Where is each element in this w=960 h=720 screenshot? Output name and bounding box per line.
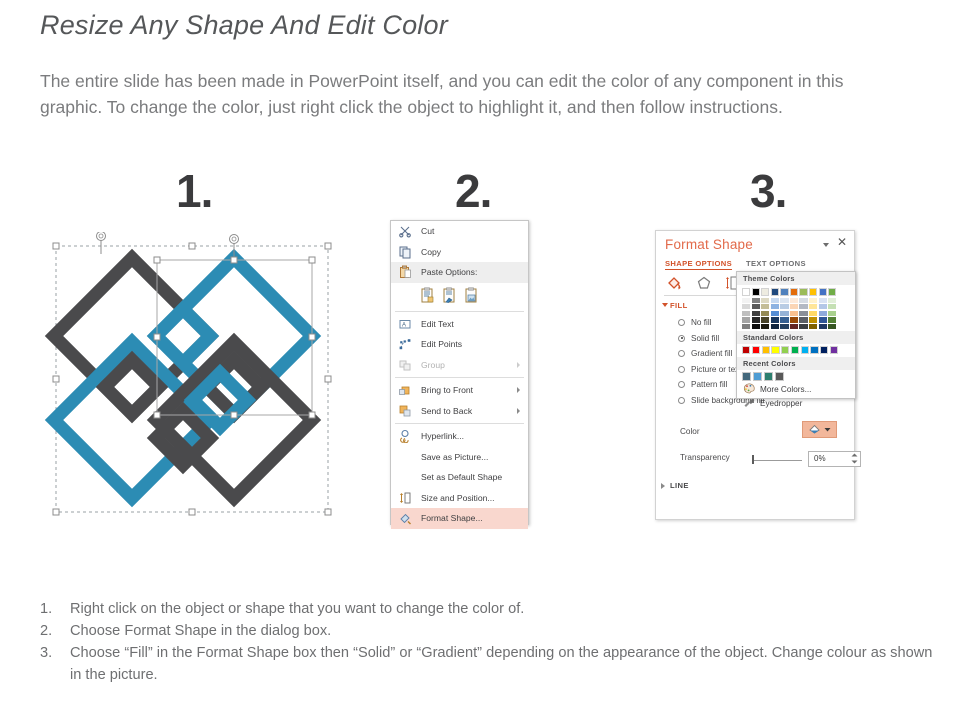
menu-item-label: Edit Points: [421, 339, 462, 349]
transparency-label: Transparency: [680, 453, 730, 462]
eyedropper-icon: [743, 397, 755, 410]
theme-swatch-6-4[interactable]: [799, 317, 807, 322]
intro-paragraph: The entire slide has been made in PowerP…: [40, 68, 868, 120]
standard-swatch-7[interactable]: [810, 346, 818, 354]
menu-item-bring-to-front[interactable]: Bring to Front: [391, 380, 528, 401]
menu-item-hyperlink[interactable]: Hyperlink...: [391, 426, 528, 447]
theme-swatch-2-1[interactable]: [761, 298, 769, 303]
theme-swatch-0-5[interactable]: [742, 324, 750, 329]
radio-icon[interactable]: [678, 319, 685, 326]
theme-swatch-0-3[interactable]: [742, 311, 750, 316]
theme-swatch-1-3[interactable]: [752, 311, 760, 316]
menu-item-set-as-default-shape[interactable]: Set as Default Shape: [391, 467, 528, 488]
menu-item-label: Paste Options:: [421, 267, 477, 277]
context-menu[interactable]: Cut Copy Paste Options:: [390, 220, 529, 525]
theme-swatch-6-1[interactable]: [799, 298, 807, 303]
theme-swatch-2-5[interactable]: [761, 324, 769, 329]
group-icon: [398, 358, 412, 372]
theme-swatch-5-2[interactable]: [790, 304, 798, 309]
theme-swatch-3-2[interactable]: [771, 304, 779, 309]
rotate-handle-left: [97, 232, 106, 254]
menu-item-label: Save as Picture...: [421, 452, 488, 462]
menu-item-label: Cut: [421, 226, 434, 236]
pentagon-effects-icon[interactable]: [696, 275, 712, 296]
menu-divider: [395, 423, 524, 424]
theme-colors-header: Theme Colors: [737, 272, 855, 285]
theme-swatch-3-4[interactable]: [771, 317, 779, 322]
theme-swatch-1-2[interactable]: [752, 304, 760, 309]
standard-swatch-3[interactable]: [771, 346, 779, 354]
list-item-text: Choose Format Shape in the dialog box.: [70, 620, 940, 642]
paste-icon: [398, 265, 412, 279]
edit-points-icon: [398, 337, 412, 351]
menu-item-label: Edit Text: [421, 319, 454, 329]
theme-swatch-9-1[interactable]: [828, 298, 836, 303]
step-number-3: 3.: [750, 168, 786, 214]
theme-swatch-7-0[interactable]: [809, 288, 817, 296]
chevron-right-icon: [517, 387, 520, 393]
edit-text-icon: A: [398, 317, 412, 331]
menu-divider: [395, 377, 524, 378]
transparency-slider-track[interactable]: [754, 460, 802, 461]
theme-swatch-5-4[interactable]: [790, 317, 798, 322]
eyedropper-item[interactable]: Eyedropper: [737, 397, 855, 411]
recent-colors-header: Recent Colors: [737, 357, 855, 370]
fill-section-header: FILL: [670, 301, 688, 310]
format-shape-pane[interactable]: Format Shape ✕ SHAPE OPTIONS TEXT OPTION…: [655, 230, 855, 520]
color-picker-flyout[interactable]: Theme Colors Standard Colors Recent Colo…: [736, 271, 856, 399]
copy-icon: [398, 245, 412, 259]
tab-text-options[interactable]: TEXT OPTIONS: [746, 259, 806, 270]
pane-tabs[interactable]: SHAPE OPTIONS TEXT OPTIONS: [665, 259, 806, 270]
theme-swatch-3-0[interactable]: [771, 288, 779, 296]
spinner-down-icon: [851, 460, 858, 464]
list-item-index: 1.: [40, 598, 70, 620]
theme-swatch-5-1[interactable]: [790, 298, 798, 303]
list-item-text: Choose “Fill” in the Format Shape box th…: [70, 642, 940, 686]
menu-item-label: Send to Back: [421, 406, 472, 416]
theme-swatch-6-2[interactable]: [799, 304, 807, 309]
list-item-text: Right click on the object or shape that …: [70, 598, 940, 620]
theme-swatch-1-1[interactable]: [752, 298, 760, 303]
pane-title: Format Shape: [665, 237, 753, 252]
radio-label: Pattern fill: [691, 380, 727, 389]
bring-to-front-icon: [398, 383, 412, 397]
step-number-2: 2.: [455, 168, 491, 214]
theme-swatch-3-5[interactable]: [771, 324, 779, 329]
format-shape-icon: [398, 511, 412, 525]
theme-swatch-8-1[interactable]: [819, 298, 827, 303]
theme-swatch-3-1[interactable]: [771, 298, 779, 303]
theme-swatch-6-5[interactable]: [799, 324, 807, 329]
theme-colors-grid[interactable]: [737, 285, 855, 331]
theme-swatch-1-4[interactable]: [752, 317, 760, 322]
menu-item-format-shape[interactable]: Format Shape...: [391, 508, 528, 529]
theme-swatch-1-5[interactable]: [752, 324, 760, 329]
radio-icon[interactable]: [678, 397, 685, 404]
chevron-right-icon: [517, 408, 520, 414]
collapse-triangle-icon[interactable]: [661, 483, 665, 489]
standard-colors-header: Standard Colors: [737, 331, 855, 344]
color-label: Color: [680, 427, 700, 436]
fill-color-button[interactable]: [802, 421, 837, 438]
standard-swatch-8[interactable]: [820, 346, 828, 354]
theme-swatch-2-0[interactable]: [761, 288, 769, 296]
list-item: 3. Choose “Fill” in the Format Shape box…: [40, 642, 940, 686]
list-item: 2. Choose Format Shape in the dialog box…: [40, 620, 940, 642]
theme-swatch-4-4[interactable]: [780, 317, 788, 322]
theme-swatch-5-3[interactable]: [790, 311, 798, 316]
theme-swatch-9-0[interactable]: [828, 288, 836, 296]
theme-swatch-9-3[interactable]: [828, 311, 836, 316]
eyedropper-label: Eyedropper: [760, 399, 802, 408]
menu-item-label: Group: [421, 360, 445, 370]
scissors-icon: [398, 224, 412, 238]
theme-swatch-2-4[interactable]: [761, 317, 769, 322]
menu-item-label: Format Shape...: [421, 513, 483, 523]
hyperlink-icon: [398, 429, 412, 443]
standard-swatch-2[interactable]: [762, 346, 770, 354]
tab-shape-options[interactable]: SHAPE OPTIONS: [665, 259, 732, 270]
theme-swatch-7-5[interactable]: [809, 324, 817, 329]
standard-colors-grid[interactable]: [737, 344, 855, 357]
radio-icon[interactable]: [678, 350, 685, 357]
transparency-spinner[interactable]: [808, 451, 861, 467]
theme-swatch-0-1[interactable]: [742, 298, 750, 303]
theme-swatch-4-1[interactable]: [780, 298, 788, 303]
radio-icon[interactable]: [678, 381, 685, 388]
spinner-buttons[interactable]: [850, 452, 859, 465]
color-row: Color: [680, 427, 850, 436]
theme-swatch-8-5[interactable]: [819, 324, 827, 329]
theme-swatch-5-5[interactable]: [790, 324, 798, 329]
menu-item-label: Copy: [421, 247, 441, 257]
instructions-list: 1. Right click on the object or shape th…: [40, 598, 940, 686]
theme-swatch-4-2[interactable]: [780, 304, 788, 309]
theme-swatch-4-3[interactable]: [780, 311, 788, 316]
theme-swatch-7-3[interactable]: [809, 311, 817, 316]
theme-swatch-8-0[interactable]: [819, 288, 827, 296]
recent-swatch-2[interactable]: [764, 372, 773, 381]
theme-swatch-7-4[interactable]: [809, 317, 817, 322]
theme-swatch-2-2[interactable]: [761, 304, 769, 309]
menu-item-size-and-position[interactable]: Size and Position...: [391, 488, 528, 509]
menu-item-label: Hyperlink...: [421, 431, 464, 441]
standard-swatch-6[interactable]: [801, 346, 809, 354]
recent-colors-grid[interactable]: [737, 370, 855, 383]
theme-swatch-3-3[interactable]: [771, 311, 779, 316]
theme-swatch-9-4[interactable]: [828, 317, 836, 322]
pane-option-icons[interactable]: [666, 275, 739, 296]
list-item-index: 2.: [40, 620, 70, 642]
theme-swatch-9-2[interactable]: [828, 304, 836, 309]
paste-merge-formatting-icon[interactable]: [442, 287, 457, 305]
theme-swatch-4-5[interactable]: [780, 324, 788, 329]
fill-color-icon: [808, 423, 822, 437]
radio-label: Gradient fill: [691, 349, 732, 358]
standard-swatch-9[interactable]: [830, 346, 838, 354]
menu-item-group: Group: [391, 355, 528, 376]
theme-swatch-5-0[interactable]: [790, 288, 798, 296]
menu-item-copy[interactable]: Copy: [391, 242, 528, 263]
standard-swatch-4[interactable]: [781, 346, 789, 354]
recent-swatch-0[interactable]: [742, 372, 751, 381]
spinner-up-icon: [851, 453, 858, 457]
theme-swatch-0-0[interactable]: [742, 288, 750, 296]
menu-item-label: Bring to Front: [421, 385, 473, 395]
more-colors-label: More Colors...: [760, 385, 811, 394]
menu-divider: [395, 311, 524, 312]
chevron-down-icon[interactable]: [823, 243, 829, 247]
theme-swatch-6-0[interactable]: [799, 288, 807, 296]
recent-swatch-1[interactable]: [753, 372, 762, 381]
list-item: 1. Right click on the object or shape th…: [40, 598, 940, 620]
diamond-blue-center-small: [156, 309, 210, 363]
slide-canvas: Resize Any Shape And Edit Color The enti…: [0, 0, 960, 720]
theme-swatch-8-2[interactable]: [819, 304, 827, 309]
radio-label: No fill: [691, 318, 711, 327]
interlocking-diamonds-graphic[interactable]: [44, 232, 340, 526]
page-title: Resize Any Shape And Edit Color: [40, 10, 448, 41]
menu-item-cut[interactable]: Cut: [391, 221, 528, 242]
standard-swatch-0[interactable]: [742, 346, 750, 354]
svg-text:A: A: [402, 322, 406, 328]
menu-item-paste-options: Paste Options:: [391, 262, 528, 283]
send-to-back-icon: [398, 404, 412, 418]
paste-picture-icon[interactable]: [464, 287, 479, 305]
line-section-header: LINE: [670, 481, 689, 490]
list-item-index: 3.: [40, 642, 70, 686]
radio-icon-selected[interactable]: [678, 335, 685, 342]
chevron-right-icon: [517, 362, 520, 368]
chevron-down-icon[interactable]: [824, 425, 831, 434]
menu-item-edit-text[interactable]: A Edit Text: [391, 314, 528, 335]
theme-swatch-8-4[interactable]: [819, 317, 827, 322]
palette-icon: [743, 383, 755, 396]
theme-swatch-2-3[interactable]: [761, 311, 769, 316]
menu-item-send-to-back[interactable]: Send to Back: [391, 401, 528, 422]
paste-keep-source-icon[interactable]: [420, 287, 435, 305]
fill-bucket-icon[interactable]: [666, 275, 683, 296]
theme-swatch-4-0[interactable]: [780, 288, 788, 296]
recent-swatch-3[interactable]: [775, 372, 784, 381]
menu-item-save-as-picture[interactable]: Save as Picture...: [391, 447, 528, 468]
menu-item-label: Size and Position...: [421, 493, 495, 503]
menu-item-edit-points[interactable]: Edit Points: [391, 334, 528, 355]
theme-swatch-1-0[interactable]: [752, 288, 760, 296]
step-number-1: 1.: [176, 168, 212, 214]
standard-swatch-5[interactable]: [791, 346, 799, 354]
radio-icon[interactable]: [678, 366, 685, 373]
theme-swatch-6-3[interactable]: [799, 311, 807, 316]
theme-swatch-7-2[interactable]: [809, 304, 817, 309]
theme-swatch-8-3[interactable]: [819, 311, 827, 316]
theme-swatch-0-2[interactable]: [742, 304, 750, 309]
theme-swatch-7-1[interactable]: [809, 298, 817, 303]
radio-label: Solid fill: [691, 334, 719, 343]
paste-options-icon-row[interactable]: [391, 283, 528, 309]
theme-swatch-9-5[interactable]: [828, 324, 836, 329]
menu-item-label: Set as Default Shape: [421, 472, 502, 482]
transparency-slider-handle[interactable]: [752, 455, 754, 464]
more-colors-item[interactable]: More Colors...: [737, 383, 855, 397]
transparency-row: Transparency 0%: [680, 453, 855, 462]
size-position-icon: [398, 491, 412, 505]
standard-swatch-1[interactable]: [752, 346, 760, 354]
theme-swatch-0-4[interactable]: [742, 317, 750, 322]
close-icon[interactable]: ✕: [837, 236, 847, 248]
expand-triangle-icon[interactable]: [662, 303, 668, 307]
